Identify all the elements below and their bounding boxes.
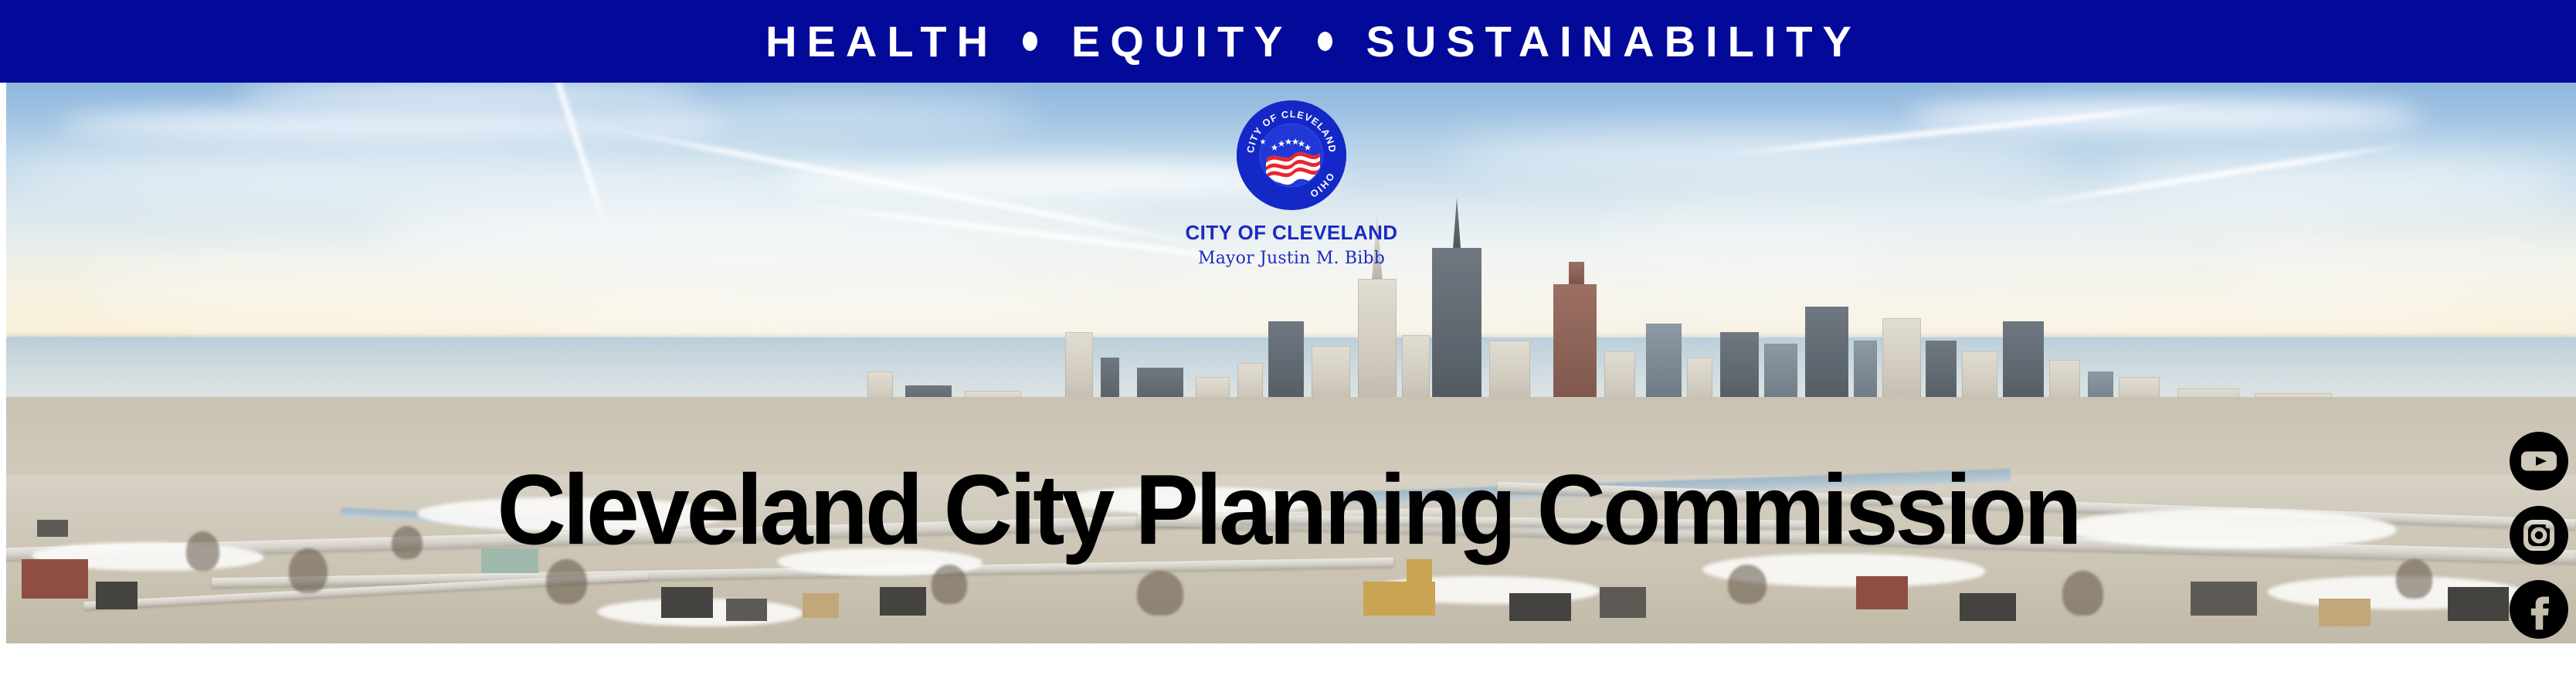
building-rooftop bbox=[1856, 576, 1908, 610]
bare-tree bbox=[2396, 559, 2432, 599]
building-rooftop bbox=[880, 587, 926, 615]
instagram-icon[interactable] bbox=[2509, 505, 2569, 565]
tagline-inner: HEALTH EQUITY SUSTAINABILITY bbox=[765, 20, 1862, 63]
tagline-word-equity: EQUITY bbox=[1071, 20, 1292, 63]
tagline-banner: HEALTH EQUITY SUSTAINABILITY bbox=[0, 0, 2576, 83]
building-rooftop bbox=[1960, 593, 2016, 621]
building-rooftop bbox=[2319, 599, 2371, 626]
building-rooftop bbox=[2191, 582, 2258, 616]
key-tower bbox=[1432, 248, 1481, 413]
bare-tree bbox=[1137, 571, 1183, 616]
building-rooftop bbox=[22, 559, 89, 599]
building bbox=[1569, 262, 1584, 284]
organization-wordmark: CITY OF CLEVELAND bbox=[1185, 221, 1397, 245]
church-building bbox=[1363, 582, 1435, 616]
bare-tree bbox=[932, 565, 968, 604]
social-links-rail bbox=[2506, 431, 2572, 640]
key-tower-spire bbox=[1453, 198, 1461, 248]
youtube-icon[interactable] bbox=[2509, 431, 2569, 491]
bare-tree bbox=[2062, 571, 2103, 616]
page-root: HEALTH EQUITY SUSTAINABILITY bbox=[0, 0, 2576, 682]
page-title: Cleveland City Planning Commission bbox=[0, 460, 2576, 560]
building-rooftop bbox=[1509, 593, 1571, 621]
city-of-cleveland-seal: CITY OF CLEVELAND OHIO bbox=[1237, 100, 1346, 210]
building-rooftop bbox=[2448, 587, 2510, 621]
building-rooftop bbox=[803, 593, 839, 619]
bottom-white-band bbox=[0, 643, 2576, 682]
building-rooftop bbox=[661, 587, 713, 618]
bare-tree bbox=[1728, 565, 1767, 604]
mayor-name: Mayor Justin M. Bibb bbox=[1198, 249, 1385, 268]
left-white-margin bbox=[0, 83, 6, 682]
city-branding-block: CITY OF CLEVELAND OHIO CITY OF CLEVELAND… bbox=[1152, 100, 1431, 268]
terminal-tower bbox=[1358, 279, 1397, 413]
building-rooftop bbox=[96, 582, 137, 609]
facebook-icon[interactable] bbox=[2509, 579, 2569, 640]
building bbox=[1553, 284, 1597, 413]
seal-graphic: CITY OF CLEVELAND OHIO bbox=[1237, 100, 1346, 210]
tagline-word-sustainability: SUSTAINABILITY bbox=[1366, 20, 1862, 63]
building-rooftop bbox=[726, 599, 767, 621]
dot-separator-icon bbox=[1023, 32, 1037, 51]
dot-separator-icon bbox=[1318, 32, 1332, 51]
tagline-word-health: HEALTH bbox=[765, 20, 998, 63]
bare-tree bbox=[546, 559, 587, 604]
building-rooftop bbox=[1600, 587, 1646, 618]
